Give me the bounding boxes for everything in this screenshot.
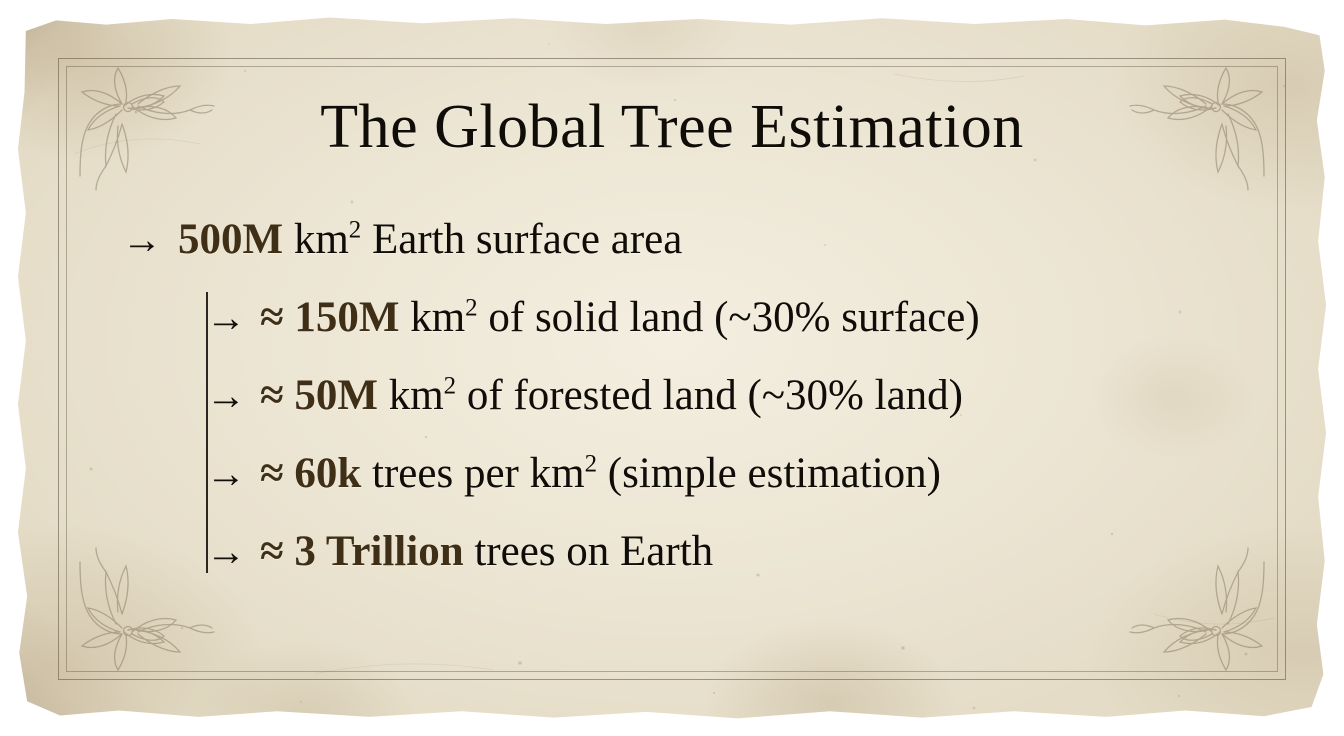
approx-sign: ≈ [260,294,284,341]
arrow-icon: → [206,298,246,338]
rest-text: of solid land (~30% surface) [478,294,980,341]
slide-canvas: The Global Tree Estimation → 500M km2 Ea… [0,0,1344,736]
arrow-icon: → [206,532,246,572]
exponent: 2 [444,373,456,400]
highlight-value: 150M [294,294,399,341]
unit-label [283,216,294,263]
list-item: → ≈ 3 Trillion trees on Earth [0,530,1344,608]
approx-sign: ≈ [260,450,284,497]
list-item-text: 500M km2 Earth surface area [178,218,682,261]
list-item: → ≈ 50M km2 of forested land (~30% land) [0,374,1344,452]
rest-text: (simple estimation) [597,450,941,497]
exponent: 2 [465,295,477,322]
approx-sign: ≈ [260,528,284,575]
highlight-value: 3 Trillion [294,528,463,575]
page-title: The Global Tree Estimation [0,96,1344,158]
list-item: → 500M km2 Earth surface area [0,218,1344,296]
unit-text: km [410,294,465,341]
unit-text: km [389,372,444,419]
arrow-icon: → [206,376,246,416]
exponent: 2 [585,451,597,478]
rest-text: trees on Earth [474,528,713,575]
arrow-icon: → [122,220,162,260]
list-item-text: ≈ 150M km2 of solid land (~30% surface) [260,296,980,339]
highlight-value: 500M [178,216,283,263]
highlight-value: 60k [294,450,361,497]
approx-sign: ≈ [260,372,284,419]
exponent: 2 [349,217,361,244]
unit-text: trees per km [372,450,585,497]
unit-text: km [294,216,349,263]
rest-text: of forested land (~30% land) [456,372,963,419]
list-item-text: ≈ 50M km2 of forested land (~30% land) [260,374,963,417]
bullet-list: → 500M km2 Earth surface area → ≈ 150M k… [0,218,1344,608]
slide-content: The Global Tree Estimation → 500M km2 Ea… [0,0,1344,736]
list-item: → ≈ 60k trees per km2 (simple estimation… [0,452,1344,530]
rest-text: Earth surface area [361,216,682,263]
list-item-text: ≈ 60k trees per km2 (simple estimation) [260,452,941,495]
arrow-icon: → [206,454,246,494]
list-item-text: ≈ 3 Trillion trees on Earth [260,530,713,573]
highlight-value: 50M [294,372,378,419]
list-item: → ≈ 150M km2 of solid land (~30% surface… [0,296,1344,374]
